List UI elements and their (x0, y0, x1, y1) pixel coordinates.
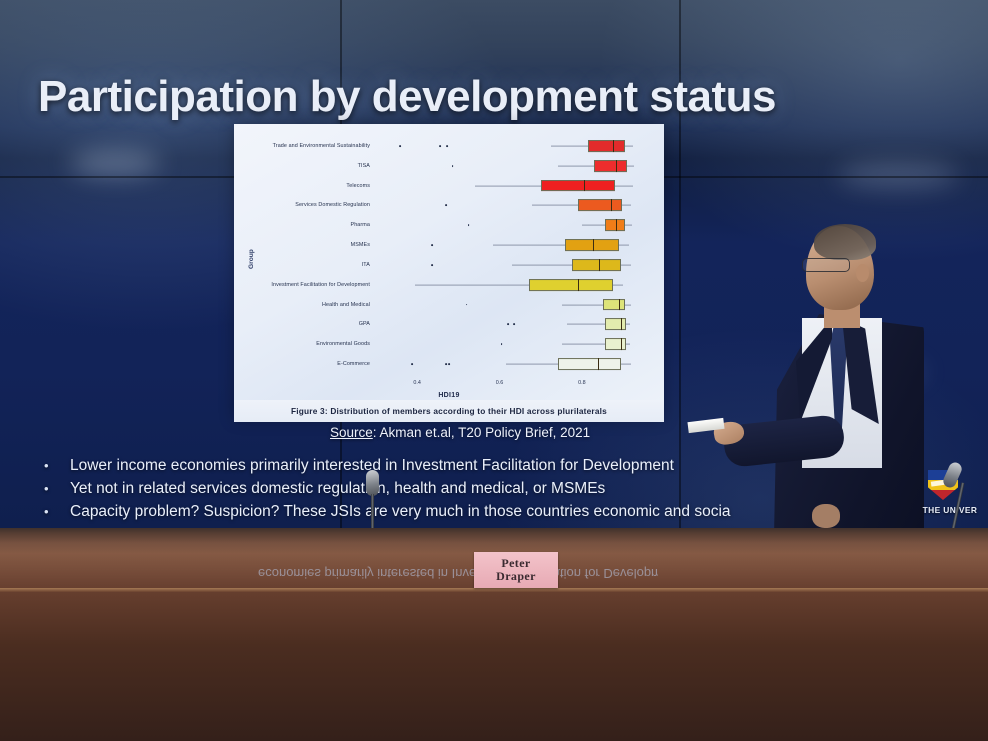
boxplot-box (588, 140, 625, 152)
boxplot-outlier-point (466, 304, 468, 306)
name-card: Peter Draper (474, 552, 558, 588)
presenter-ear (856, 264, 869, 282)
boxplot-outlier-point (432, 244, 434, 246)
presenter-hair (814, 224, 876, 260)
boxplot-outlier-point (445, 205, 447, 207)
figure-source: Source: Akman et.al, T20 Policy Brief, 2… (330, 425, 590, 440)
figure-caption: Figure 3: Distribution of members accord… (234, 400, 664, 422)
y-axis-tick-label: Trade and Environmental Sustainability (273, 143, 370, 149)
boxplot-box (578, 199, 622, 211)
bullet-text-3: Capacity problem? Suspicion? These JSIs … (70, 502, 731, 522)
boxplot-outlier-point (468, 224, 470, 226)
wall-glare-right (838, 162, 958, 188)
y-axis-tick-label: Services Domestic Regulation (295, 202, 370, 208)
x-axis-title: HDI19 (234, 392, 664, 399)
y-axis-tick-label: GPA (359, 321, 370, 327)
boxplot-median-line (584, 180, 585, 192)
boxplot-outlier-point (445, 363, 447, 365)
y-axis-tick-label: Environmental Goods (316, 341, 370, 347)
boxplot-outlier-point (446, 145, 448, 147)
boxplot-box (558, 358, 621, 370)
boxplot-outlier-point (452, 165, 454, 167)
reflection-text: economies primarily interested in Invest… (258, 566, 658, 581)
boxplot-box (605, 219, 626, 231)
presenter-hand-pocket (812, 504, 840, 528)
y-axis-tick-label: ITA (362, 262, 370, 268)
boxplot-outlier-point (399, 145, 401, 147)
x-axis-tick-label: 0.6 (496, 380, 504, 386)
boxplot-median-line (616, 160, 617, 172)
boxplot-box (529, 279, 613, 291)
y-axis-tick-label: E-Commerce (337, 361, 370, 367)
bullet-marker-icon: • (44, 502, 70, 522)
y-axis-tick-label: MSMEs (351, 242, 370, 248)
mic-head (366, 470, 379, 496)
x-axis-tick-label: 0.4 (413, 380, 421, 386)
boxplot-median-line (619, 299, 620, 311)
source-label: Source (330, 425, 373, 440)
boxplot-median-line (598, 358, 599, 370)
boxplot-outlier-point (439, 145, 441, 147)
y-axis-tick-label: TISA (358, 163, 370, 169)
boxplot-outlier-point (432, 264, 434, 266)
boxplot-median-line (599, 259, 600, 271)
boxplot-median-line (616, 219, 617, 231)
boxplot-box (565, 239, 619, 251)
desk-reflection-text: economies primarily interested in Invest… (258, 566, 658, 588)
boxplot-median-line (593, 239, 594, 251)
name-card-last: Draper (496, 570, 536, 583)
boxplot-median-line (613, 140, 614, 152)
boxplot-box (603, 299, 625, 311)
boxplot-chart: Trade and Environmental SustainabilityTI… (234, 124, 664, 420)
boxplot-median-line (611, 199, 612, 211)
x-axis-tick-label: 0.8 (578, 380, 586, 386)
boxplot-box (572, 259, 621, 271)
wall-glare-left (70, 150, 160, 176)
y-axis-tick-label: Investment Facilitation for Development (271, 282, 370, 288)
chart-panel: Trade and Environmental SustainabilityTI… (234, 124, 664, 420)
boxplot-box (541, 180, 615, 192)
boxplot-outlier-point (411, 363, 413, 365)
bullet-text-2: Yet not in related services domestic reg… (70, 479, 605, 499)
presentation-photo: Participation by development status Trad… (0, 0, 988, 741)
y-axis-tick-label: Health and Medical (322, 302, 370, 308)
boxplot-box (594, 160, 627, 172)
bullet-marker-icon: • (44, 456, 70, 476)
y-axis-tick-label: Pharma (351, 222, 370, 228)
bullet-marker-icon: • (44, 479, 70, 499)
desk-edge (0, 588, 988, 592)
boxplot-outlier-point (513, 324, 515, 326)
boxplot-median-line (621, 318, 622, 330)
boxplot-outlier-point (448, 363, 450, 365)
source-text: : Akman et.al, T20 Policy Brief, 2021 (373, 425, 590, 440)
boxplot-outlier-point (507, 324, 509, 326)
boxplot-outlier-point (501, 343, 503, 345)
y-axis-tick-label: Telecoms (346, 183, 370, 189)
presenter-person (690, 222, 930, 532)
university-name-text: THE UNIVER (912, 505, 988, 515)
y-axis-title: Group (248, 249, 255, 269)
boxplot-median-line (578, 279, 579, 291)
slide-title: Participation by development status (38, 72, 838, 122)
glasses-icon (802, 258, 850, 272)
boxplot-box (605, 338, 626, 350)
boxplot-box (605, 318, 626, 330)
boxplot-median-line (621, 338, 622, 350)
